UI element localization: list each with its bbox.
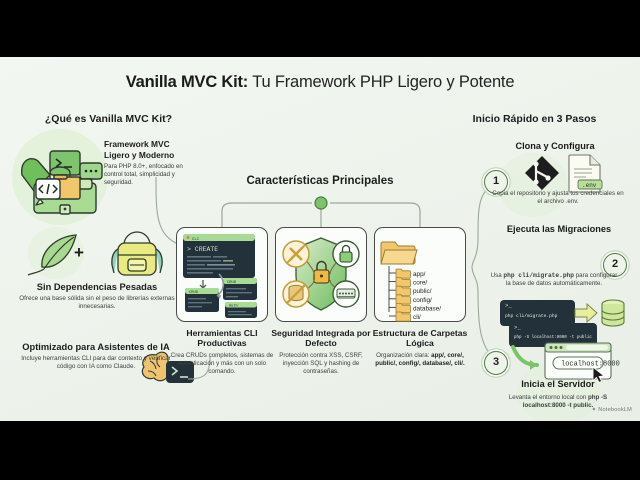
step-2-title: Ejecuta las Migraciones	[484, 224, 634, 234]
browser-icon: localhost:8000	[545, 343, 620, 383]
feature-card-security[interactable]	[275, 227, 367, 322]
feature-no-deps-title: Sin Dependencias Pesadas	[8, 282, 186, 293]
section-heading-center: Características Principales	[180, 175, 460, 187]
letterbox-bottom	[0, 421, 640, 480]
screenshot-stage: Vanilla MVC Kit: Tu Framework PHP Ligero…	[0, 0, 640, 480]
step-3-text-prefix: Levanta el entorno local con	[509, 394, 588, 401]
step-1-title: Clona y Configura	[490, 141, 620, 151]
no-xss-badge	[283, 241, 309, 267]
step-2-command: php cli/migrate.php	[505, 314, 557, 319]
folder-label: core/	[413, 280, 427, 287]
feature-card-folders-caption: Estructura de Carpetas Lógica Organizaci…	[367, 328, 473, 368]
git-icon	[525, 156, 559, 190]
feature-card-cli[interactable]: CLI > CREATE CRUD CRUD	[176, 227, 268, 322]
step-2-text-prefix: Usa	[491, 272, 504, 279]
database-icon	[602, 300, 624, 326]
card-security-title: Seguridad Integrada por Defecto	[268, 328, 374, 349]
hero-title: Framework MVC Ligero y Moderno	[104, 139, 196, 160]
backpack-icon	[112, 232, 162, 275]
password-hash-badge	[333, 281, 359, 307]
card-cli-title: Herramientas CLI Productivas	[169, 328, 275, 349]
folder-tree-icon: app/core/public/config/database/cli/	[375, 228, 465, 321]
svg-text:.env: .env	[582, 182, 597, 189]
no-sql-injection-badge	[283, 281, 309, 307]
feature-card-folders[interactable]: app/core/public/config/database/cli/	[374, 227, 466, 322]
folder-label: database/	[413, 305, 441, 312]
feature-ai-title: Optimizado para Asistentes de IA	[16, 342, 176, 353]
card-folders-text-prefix: Organización clara:	[376, 352, 431, 359]
lock-badge	[333, 241, 359, 267]
step-1-icons: .env	[522, 153, 614, 191]
step-1-text: Copia el repositorio y ajusta tus creden…	[490, 190, 626, 207]
terminal-prompt-icon: >_	[514, 324, 521, 331]
env-file-icon: .env	[569, 155, 602, 192]
card-security-text: Protección contra XSS, CSRF, inyección S…	[268, 352, 374, 377]
step-3-number: 3	[484, 351, 508, 375]
page-title: Vanilla MVC Kit: Tu Framework PHP Ligero…	[0, 73, 640, 92]
toolbox-icon	[14, 135, 118, 227]
step-3-title: Inicia el Servidor	[494, 379, 622, 389]
section-heading-right: Inicio Rápido en 3 Pasos	[432, 113, 637, 125]
cli-windows-icon: CLI > CREATE CRUD CRUD	[177, 228, 267, 321]
folder-label: config/	[413, 297, 432, 304]
plus-icon: +	[74, 243, 84, 263]
card-folders-text: Organización clara: app/, core/, public/…	[367, 352, 473, 369]
svg-text:> CREATE: > CREATE	[187, 246, 218, 253]
feature-ai-optimized: Optimizado para Asistentes de IA Incluye…	[16, 342, 176, 372]
browser-url: localhost:8000	[561, 361, 620, 369]
feature-ai-text: Incluye herramientas CLI para dar contex…	[16, 355, 176, 372]
notebooklm-watermark: ✦ NotebookLM	[592, 407, 632, 413]
folder-label: public/	[413, 288, 432, 295]
feature-1-icons	[24, 229, 174, 279]
svg-text:CRUD: CRUD	[227, 281, 237, 285]
step-3-icons: localhost:8000	[509, 343, 621, 383]
folder-label: app/	[413, 271, 426, 278]
feature-no-deps: Sin Dependencias Pesadas Ofrece una base…	[8, 282, 186, 312]
page-title-bold: Vanilla MVC Kit:	[126, 73, 248, 91]
watermark-label: NotebookLM	[598, 407, 632, 413]
svg-text:CLI: CLI	[192, 238, 199, 242]
infographic-canvas: Vanilla MVC Kit: Tu Framework PHP Ligero…	[0, 57, 640, 421]
card-folders-title: Estructura de Carpetas Lógica	[367, 328, 473, 349]
page-title-rest: Tu Framework PHP Ligero y Potente	[248, 73, 514, 91]
step-2-text: Usa php cli/migrate.php para configurar …	[488, 272, 620, 289]
step-3-command: php -S localhost:8000 -t public	[514, 336, 592, 340]
section-heading-left: ¿Qué es Vanilla MVC Kit?	[6, 113, 211, 125]
feature-no-deps-text: Ofrece una base sólida sin el peso de li…	[8, 295, 186, 312]
step-2-inline-command: php cli/migrate.php	[503, 272, 574, 279]
folder-label: cli/	[413, 314, 421, 321]
letterbox-top	[0, 0, 640, 57]
svg-text:Auth: Auth	[229, 304, 238, 309]
svg-text:CRUD: CRUD	[189, 291, 199, 295]
terminal-prompt-icon: >_	[505, 302, 512, 309]
feature-card-security-caption: Seguridad Integrada por Defecto Protecci…	[268, 328, 374, 377]
feather-icon	[28, 235, 76, 275]
feature-card-cli-caption: Herramientas CLI Productivas Crea CRUDs …	[169, 328, 275, 377]
card-cli-text: Crea CRUDs completos, sistemas de autent…	[169, 352, 275, 377]
shield-lock-icon	[276, 228, 366, 321]
